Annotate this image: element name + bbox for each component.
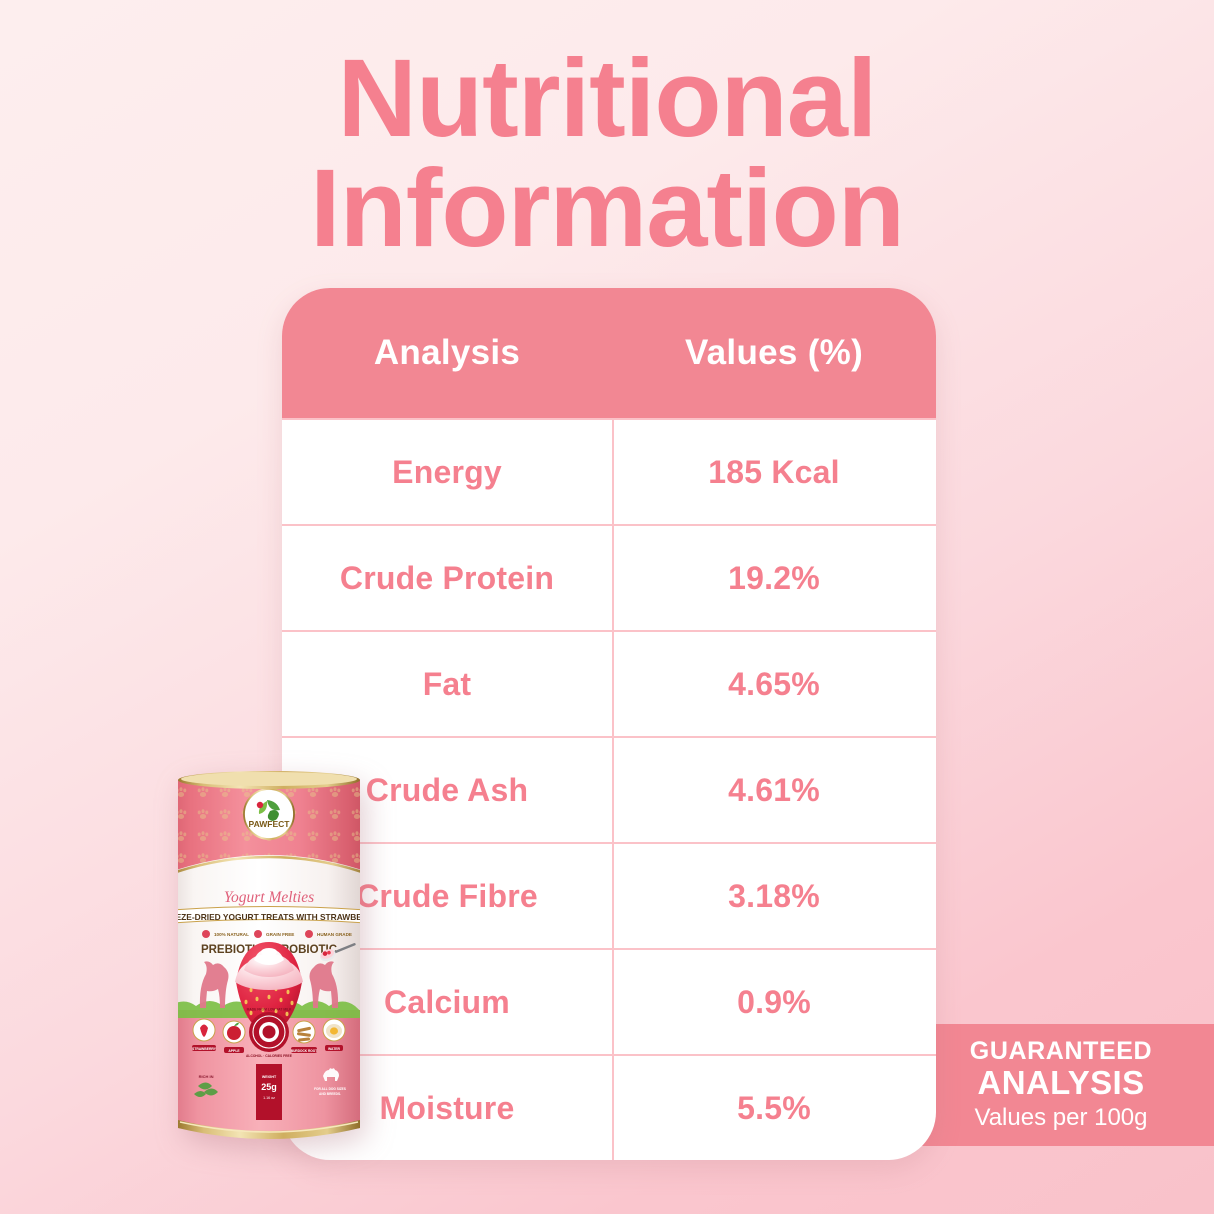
cell-analysis: Fat xyxy=(282,666,612,703)
cell-value: 4.65% xyxy=(612,666,936,703)
svg-text:BURDOCK ROOT: BURDOCK ROOT xyxy=(291,1049,317,1053)
badge-line-guaranteed: GUARANTEED xyxy=(970,1037,1152,1065)
svg-text:25g: 25g xyxy=(261,1082,277,1092)
table-body: Energy 185 Kcal Crude Protein 19.2% Fat … xyxy=(282,418,936,1160)
svg-text:Yogurt Melties: Yogurt Melties xyxy=(224,889,314,906)
cell-value: 0.9% xyxy=(612,984,936,1021)
cell-analysis: Crude Protein xyxy=(282,560,612,597)
page-title-line-1: Nutritional xyxy=(0,44,1214,154)
cell-analysis: Energy xyxy=(282,454,612,491)
table-row: Fat 4.65% xyxy=(282,630,936,736)
table-row: Moisture 5.5% xyxy=(282,1054,936,1160)
table-row: Energy 185 Kcal xyxy=(282,418,936,524)
page-title: Nutritional Information xyxy=(0,44,1214,264)
guaranteed-analysis-badge: GUARANTEED ANALYSIS Values per 100g xyxy=(908,1024,1214,1146)
table-column-divider xyxy=(612,418,614,1160)
cell-value: 5.5% xyxy=(612,1090,936,1127)
svg-text:ALCOHOL · CALORIES FREE: ALCOHOL · CALORIES FREE xyxy=(246,1054,293,1058)
table-row: Calcium 0.9% xyxy=(282,948,936,1054)
table-header-row: Analysis Values (%) xyxy=(282,288,936,418)
table-header-values: Values (%) xyxy=(612,333,936,373)
svg-text:GRAIN FREE: GRAIN FREE xyxy=(266,932,294,937)
cell-value: 3.18% xyxy=(612,878,936,915)
badge-line-analysis: ANALYSIS xyxy=(977,1065,1144,1101)
table-header-analysis: Analysis xyxy=(282,333,612,373)
cell-value: 19.2% xyxy=(612,560,936,597)
product-can-image: PAWFECT Yogurt Melties FREEZE-DRIED YOGU… xyxy=(170,760,368,1152)
svg-text:HUMAN GRADE: HUMAN GRADE xyxy=(317,932,352,937)
svg-text:100% NATURAL: 100% NATURAL xyxy=(214,932,249,937)
svg-text:WATER: WATER xyxy=(328,1047,341,1051)
badge-line-values-per: Values per 100g xyxy=(974,1102,1147,1133)
svg-text:FREEZE-DRIED YOGURT TREATS WIT: FREEZE-DRIED YOGURT TREATS WITH STRAWBER… xyxy=(170,912,368,922)
svg-text:APPLE: APPLE xyxy=(228,1049,240,1053)
table-row: Crude Fibre 3.18% xyxy=(282,842,936,948)
page-title-line-2: Information xyxy=(0,154,1214,264)
svg-text:PAWFECT: PAWFECT xyxy=(249,819,291,829)
svg-text:MADE FROM LOW FAT MILK: MADE FROM LOW FAT MILK xyxy=(247,1008,292,1012)
svg-text:FOR ALL DOG SIZES: FOR ALL DOG SIZES xyxy=(314,1087,346,1091)
svg-text:AND BREEDS.: AND BREEDS. xyxy=(319,1092,341,1096)
cell-value: 4.61% xyxy=(612,772,936,809)
table-row: Crude Protein 19.2% xyxy=(282,524,936,630)
cell-value: 185 Kcal xyxy=(612,454,936,491)
table-row: Crude Ash 4.61% xyxy=(282,736,936,842)
svg-text:WEIGHT: WEIGHT xyxy=(262,1075,277,1079)
svg-text:STRAWBERRY: STRAWBERRY xyxy=(192,1047,217,1051)
nutrition-table-card: Analysis Values (%) Energy 185 Kcal Crud… xyxy=(282,288,936,1160)
svg-text:1.16 oz: 1.16 oz xyxy=(263,1096,275,1100)
svg-text:RICH IN: RICH IN xyxy=(199,1074,214,1079)
